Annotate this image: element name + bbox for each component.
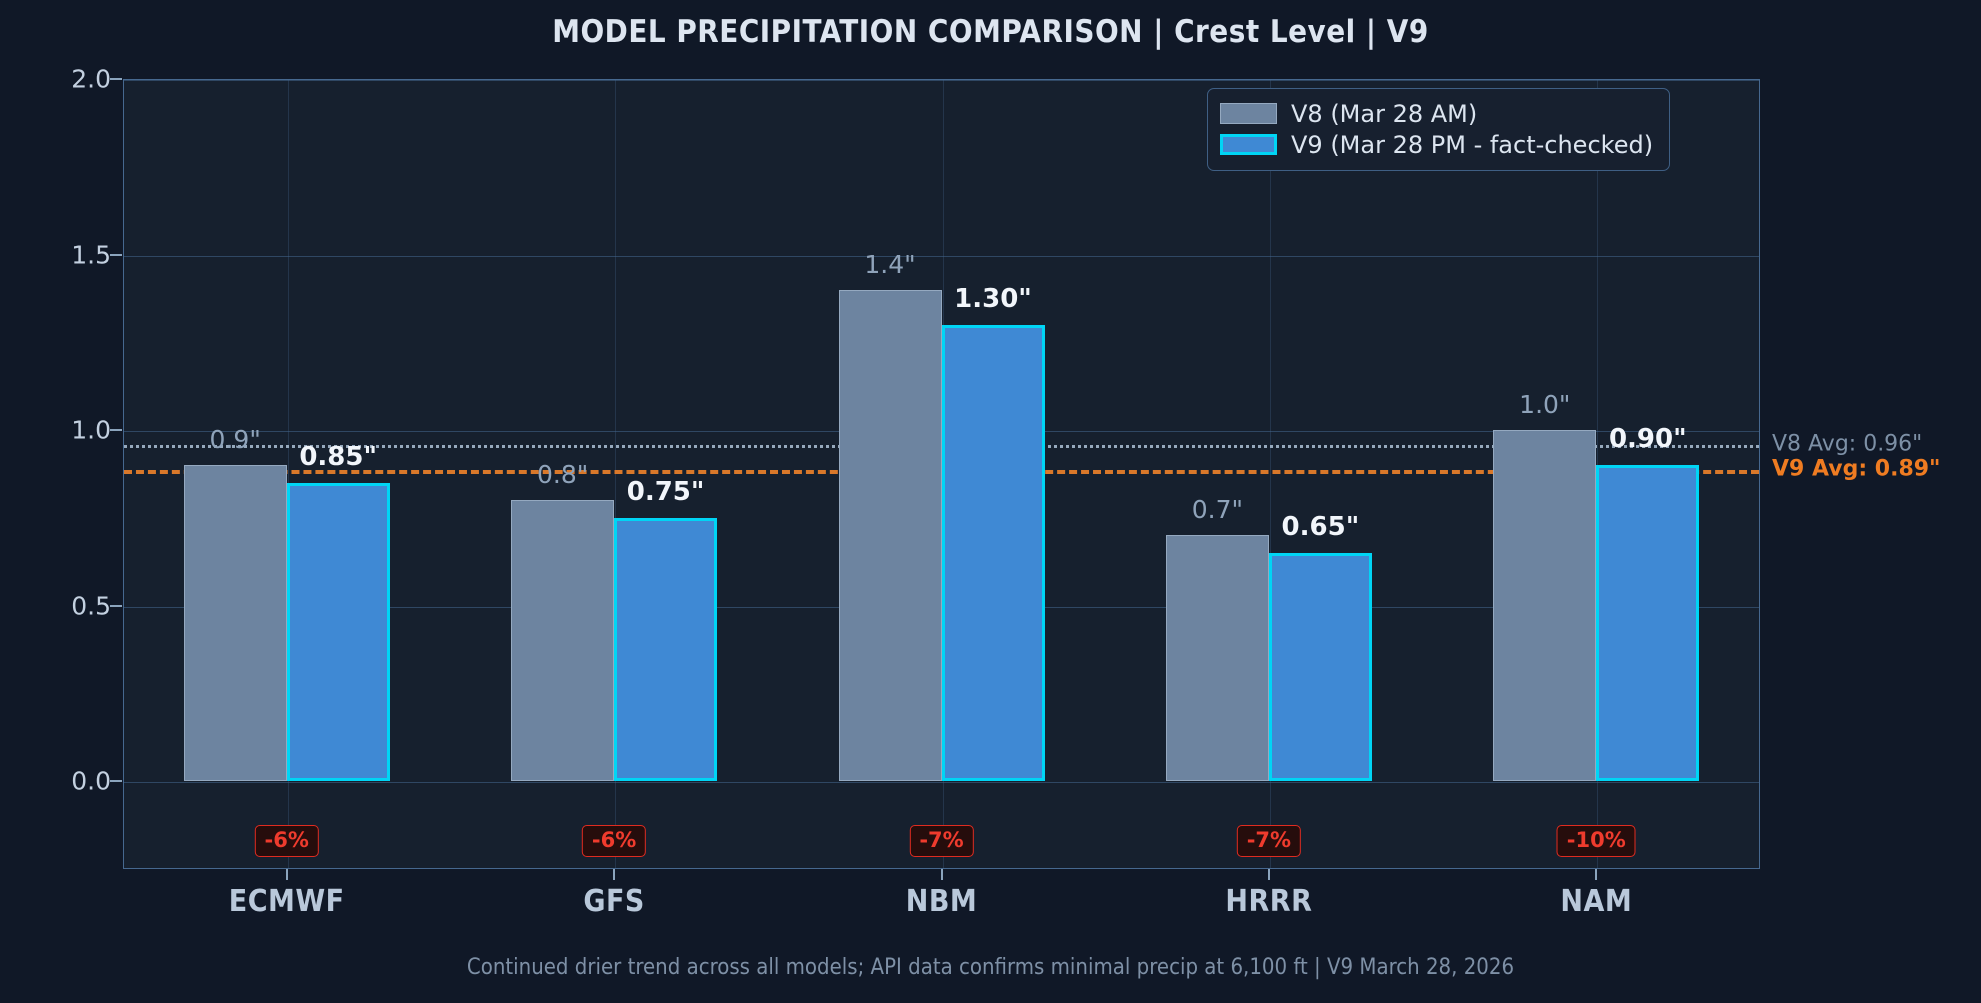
y-tick-mark [110,78,122,80]
bar-value-label: 0.9" [210,425,261,454]
bar-value-label: 0.85" [299,442,377,472]
x-tick-label-nbm: NBM [906,884,978,919]
bar-hrrr-v8[interactable] [1166,535,1269,781]
bar-gfs-v8[interactable] [511,500,614,781]
x-tick-mark [286,869,288,880]
bar-ecmwf-v8[interactable] [184,465,287,781]
bar-nbm-v8[interactable] [839,290,942,782]
y-gridline [124,80,1759,81]
bar-value-label: 0.8" [537,460,588,489]
x-tick-label-hrrr: HRRR [1225,884,1312,919]
bar-nam-v8[interactable] [1493,430,1596,781]
legend-item-v9[interactable]: V9 (Mar 28 PM - fact-checked) [1220,129,1653,160]
bar-nbm-v9[interactable] [942,325,1045,781]
y-tick-mark [110,780,122,782]
x-tick-label-nam: NAM [1560,884,1632,919]
y-gridline [124,782,1759,783]
delta-badge-hrrr: -7% [1237,825,1301,857]
bar-value-label: 0.75" [627,477,705,507]
delta-badge-ecmwf: -6% [255,825,319,857]
y-tick-mark [110,254,122,256]
y-tick-mark [110,429,122,431]
bar-hrrr-v9[interactable] [1269,553,1372,781]
y-gridline [124,256,1759,257]
average-label-v9: V9 Avg: 0.89" [1772,456,1941,481]
y-tick-label: 2.0 [0,65,111,94]
legend: V8 (Mar 28 AM)V9 (Mar 28 PM - fact-check… [1207,88,1670,171]
delta-badge-nbm: -7% [909,825,973,857]
x-tick-label-gfs: GFS [583,884,645,919]
bar-value-label: 1.30" [954,284,1032,314]
chart-figure: MODEL PRECIPITATION COMPARISON | Crest L… [0,0,1981,1003]
bar-value-label: 0.7" [1192,495,1243,524]
y-tick-mark [110,605,122,607]
delta-badge-nam: -10% [1557,825,1636,857]
y-tick-label: 1.5 [0,240,111,269]
bar-nam-v9[interactable] [1596,465,1699,781]
legend-label: V9 (Mar 28 PM - fact-checked) [1291,131,1653,159]
y-tick-label: 0.0 [0,767,111,796]
legend-label: V8 (Mar 28 AM) [1291,100,1477,128]
x-tick-mark [1268,869,1270,880]
bar-value-label: 0.65" [1282,512,1360,542]
bar-value-label: 1.0" [1519,390,1570,419]
x-tick-mark [613,869,615,880]
legend-item-v8[interactable]: V8 (Mar 28 AM) [1220,98,1653,129]
bar-value-label: 1.4" [864,250,915,279]
legend-swatch-icon [1220,103,1277,124]
delta-badge-gfs: -6% [582,825,646,857]
page-title: MODEL PRECIPITATION COMPARISON | Crest L… [0,14,1981,50]
x-tick-mark [1595,869,1597,880]
average-label-v8: V8 Avg: 0.96" [1772,432,1922,457]
y-tick-label: 1.0 [0,416,111,445]
y-tick-label: 0.5 [0,591,111,620]
bar-gfs-v9[interactable] [614,518,717,781]
bar-value-label: 0.90" [1609,424,1687,454]
bar-ecmwf-v9[interactable] [287,483,390,781]
legend-swatch-icon [1220,134,1277,155]
x-tick-mark [941,869,943,880]
footer-caption: Continued drier trend across all models;… [0,955,1981,980]
x-tick-label-ecmwf: ECMWF [229,884,345,919]
